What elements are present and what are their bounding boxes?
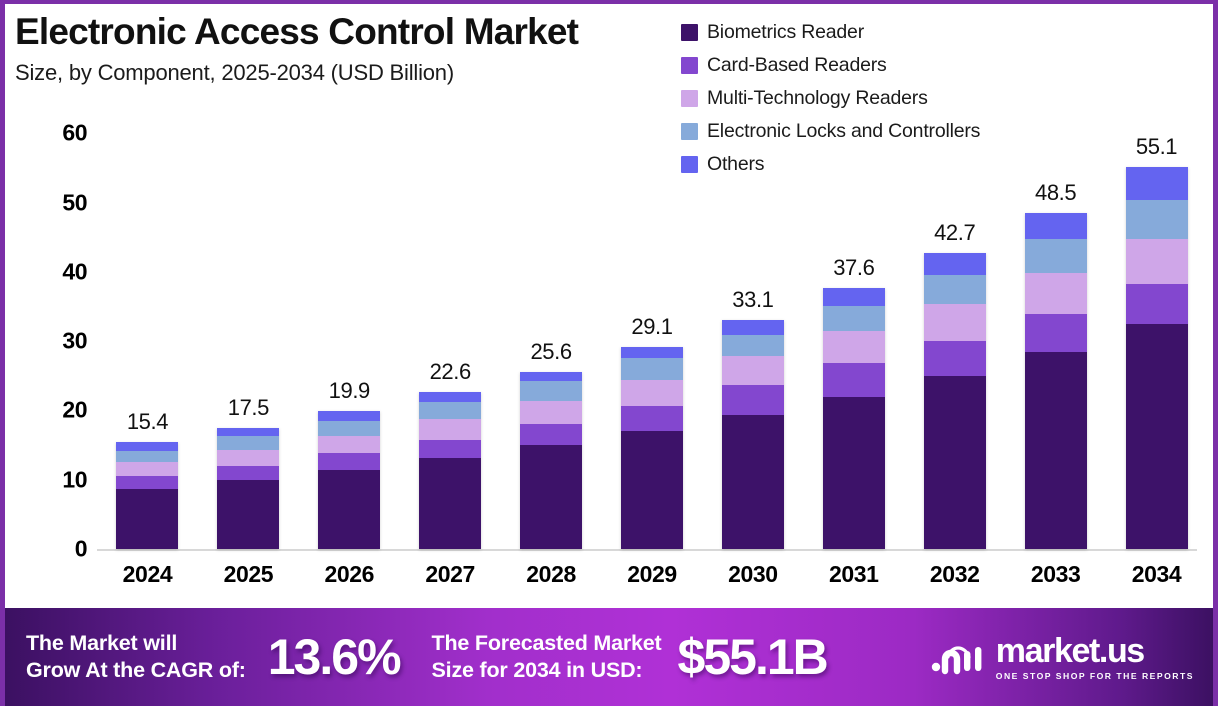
x-axis-tick-label: 2033: [1005, 561, 1106, 588]
bar-total-label: 22.6: [400, 359, 501, 385]
bar-total-label: 25.6: [501, 339, 602, 365]
forecast-caption-line2: Size for 2034 in USD:: [432, 657, 662, 684]
bar-segment[interactable]: [823, 363, 885, 397]
y-axis-tick-label: 20: [62, 397, 87, 424]
bar-group[interactable]: 42.7: [904, 114, 1005, 549]
logo-wordmark: market.us: [996, 634, 1194, 668]
market-us-logo-icon: [931, 637, 987, 677]
bar-segment[interactable]: [924, 253, 986, 274]
bar-segment[interactable]: [318, 436, 380, 453]
bar-total-label: 15.4: [97, 409, 198, 435]
page-title: Electronic Access Control Market: [15, 12, 675, 52]
legend-swatch-icon: [681, 24, 698, 41]
bar-group[interactable]: 55.1: [1106, 114, 1207, 549]
bar-segment[interactable]: [419, 440, 481, 459]
header-block: Electronic Access Control Market Size, b…: [15, 12, 675, 86]
bar-segment[interactable]: [217, 450, 279, 466]
x-axis-tick-label: 2034: [1106, 561, 1207, 588]
x-axis-tick-label: 2029: [602, 561, 703, 588]
bar-group[interactable]: 19.9: [299, 114, 400, 549]
bar-segment[interactable]: [419, 458, 481, 549]
bar-segment[interactable]: [924, 341, 986, 376]
bar-total-label: 33.1: [702, 287, 803, 313]
bar-segment[interactable]: [1025, 314, 1087, 352]
bar-segment[interactable]: [116, 442, 178, 450]
y-axis: 0102030405060: [5, 114, 97, 559]
bar-segment[interactable]: [1126, 167, 1188, 200]
legend-item-label: Card-Based Readers: [707, 54, 887, 77]
cagr-value: 13.6%: [268, 628, 400, 686]
chart-subtitle: Size, by Component, 2025-2034 (USD Billi…: [15, 60, 675, 86]
brand-logo[interactable]: market.us ONE STOP SHOP FOR THE REPORTS: [931, 634, 1200, 681]
y-axis-tick-label: 40: [62, 258, 87, 285]
bar-segment[interactable]: [520, 401, 582, 424]
bar-stack[interactable]: [318, 411, 380, 549]
x-axis: 2024202520262027202820292030203120322033…: [97, 561, 1207, 588]
bar-segment[interactable]: [318, 421, 380, 436]
bar-group[interactable]: 29.1: [602, 114, 703, 549]
bar-stack[interactable]: [924, 253, 986, 549]
bar-segment[interactable]: [621, 380, 683, 406]
bar-segment[interactable]: [116, 489, 178, 549]
bar-total-label: 19.9: [299, 378, 400, 404]
bar-stack[interactable]: [116, 442, 178, 549]
bar-segment[interactable]: [924, 376, 986, 549]
x-axis-baseline: [97, 549, 1197, 551]
bar-segment[interactable]: [1126, 284, 1188, 324]
bar-segment[interactable]: [520, 424, 582, 445]
forecast-value: $55.1B: [678, 628, 827, 686]
x-axis-tick-label: 2028: [501, 561, 602, 588]
bar-segment[interactable]: [823, 331, 885, 364]
bar-segment[interactable]: [1025, 352, 1087, 549]
bar-group[interactable]: 22.6: [400, 114, 501, 549]
footer-bar: The Market will Grow At the CAGR of: 13.…: [0, 608, 1218, 706]
bar-segment[interactable]: [1025, 273, 1087, 315]
bar-segment[interactable]: [520, 372, 582, 382]
bar-group[interactable]: 15.4: [97, 114, 198, 549]
y-axis-tick-label: 60: [62, 120, 87, 147]
bar-stack[interactable]: [722, 320, 784, 549]
cagr-caption-line2: Grow At the CAGR of:: [26, 657, 246, 684]
bar-segment[interactable]: [217, 436, 279, 450]
bar-group[interactable]: 37.6: [803, 114, 904, 549]
bar-segment[interactable]: [217, 428, 279, 436]
bar-segment[interactable]: [823, 306, 885, 331]
bar-segment[interactable]: [217, 480, 279, 549]
bar-segment[interactable]: [1025, 213, 1087, 239]
cagr-caption-line1: The Market will: [26, 630, 246, 657]
bar-segment[interactable]: [722, 320, 784, 335]
bar-segment[interactable]: [1025, 239, 1087, 272]
bar-segment[interactable]: [520, 381, 582, 400]
bar-segment[interactable]: [318, 411, 380, 421]
y-axis-tick-label: 30: [62, 328, 87, 355]
bar-segment[interactable]: [1126, 200, 1188, 238]
bar-segment[interactable]: [419, 402, 481, 419]
bar-segment[interactable]: [722, 385, 784, 415]
bar-segment[interactable]: [621, 431, 683, 549]
bar-segment[interactable]: [823, 397, 885, 549]
bar-stack[interactable]: [419, 392, 481, 549]
bar-stack[interactable]: [1126, 167, 1188, 549]
bar-group[interactable]: 33.1: [702, 114, 803, 549]
bar-stack[interactable]: [520, 372, 582, 549]
legend-item[interactable]: Biometrics Reader: [681, 18, 980, 46]
bar-total-label: 42.7: [904, 220, 1005, 246]
legend-swatch-icon: [681, 90, 698, 107]
bar-segment[interactable]: [722, 335, 784, 356]
legend-item-label: Multi-Technology Readers: [707, 87, 928, 110]
x-axis-tick-label: 2030: [702, 561, 803, 588]
bar-segment[interactable]: [722, 415, 784, 549]
bar-total-label: 29.1: [602, 314, 703, 340]
y-axis-tick-label: 50: [62, 189, 87, 216]
bar-segment[interactable]: [116, 451, 178, 463]
bar-segment[interactable]: [318, 453, 380, 470]
bar-total-label: 55.1: [1106, 134, 1207, 160]
bar-total-label: 37.6: [803, 255, 904, 281]
bar-stack[interactable]: [621, 347, 683, 549]
legend-item-label: Biometrics Reader: [707, 21, 864, 44]
forecast-caption: The Forecasted Market Size for 2034 in U…: [432, 630, 662, 684]
infographic-root: Electronic Access Control Market Size, b…: [0, 0, 1218, 706]
bar-segment[interactable]: [621, 347, 683, 358]
bar-segment[interactable]: [1126, 239, 1188, 285]
x-axis-tick-label: 2031: [803, 561, 904, 588]
bar-segment[interactable]: [924, 275, 986, 305]
x-axis-tick-label: 2025: [198, 561, 299, 588]
bar-segment[interactable]: [419, 392, 481, 402]
x-axis-tick-label: 2027: [400, 561, 501, 588]
bar-segment[interactable]: [318, 470, 380, 549]
bar-segment[interactable]: [116, 462, 178, 476]
bar-segment[interactable]: [621, 406, 683, 431]
bar-stack[interactable]: [217, 428, 279, 549]
x-axis-tick-label: 2024: [97, 561, 198, 588]
logo-tagline: ONE STOP SHOP FOR THE REPORTS: [996, 671, 1194, 681]
y-axis-tick-label: 10: [62, 466, 87, 493]
y-axis-tick-label: 0: [75, 536, 87, 563]
cagr-caption: The Market will Grow At the CAGR of:: [26, 630, 246, 684]
bar-group[interactable]: 48.5: [1005, 114, 1106, 549]
legend-item[interactable]: Card-Based Readers: [681, 51, 980, 79]
chart-plot-area: 0102030405060 15.417.519.922.625.629.133…: [5, 114, 1213, 604]
bar-segment[interactable]: [116, 476, 178, 488]
bar-segment[interactable]: [1126, 324, 1188, 549]
forecast-caption-line1: The Forecasted Market: [432, 630, 662, 657]
bar-group[interactable]: 25.6: [501, 114, 602, 549]
bar-stack[interactable]: [1025, 213, 1087, 549]
legend-item[interactable]: Multi-Technology Readers: [681, 84, 980, 112]
x-axis-tick-label: 2032: [904, 561, 1005, 588]
bar-stack[interactable]: [823, 288, 885, 549]
bar-segment[interactable]: [722, 356, 784, 385]
logo-text: market.us ONE STOP SHOP FOR THE REPORTS: [996, 634, 1194, 681]
bar-segment[interactable]: [520, 445, 582, 549]
x-axis-tick-label: 2026: [299, 561, 400, 588]
legend-swatch-icon: [681, 57, 698, 74]
bars-container: 15.417.519.922.625.629.133.137.642.748.5…: [97, 114, 1207, 549]
bar-total-label: 17.5: [198, 395, 299, 421]
bar-total-label: 48.5: [1005, 180, 1106, 206]
bar-group[interactable]: 17.5: [198, 114, 299, 549]
bar-segment[interactable]: [621, 358, 683, 379]
bar-segment[interactable]: [217, 466, 279, 481]
bar-segment[interactable]: [823, 288, 885, 305]
bar-segment[interactable]: [419, 419, 481, 439]
bar-segment[interactable]: [924, 304, 986, 341]
